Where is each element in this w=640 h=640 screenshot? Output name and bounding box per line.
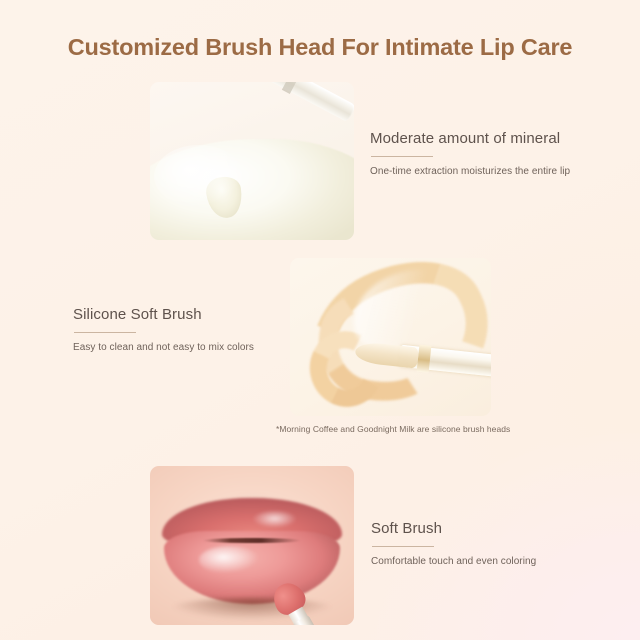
feature-heading: Soft Brush	[371, 520, 536, 537]
feature-heading: Moderate amount of mineral	[370, 130, 570, 147]
lip-gloss-highlight-lower	[199, 546, 260, 575]
feature-caption-silicone-soft-brush: Silicone Soft Brush Easy to clean and no…	[73, 306, 254, 353]
footnote-text: *Morning Coffee and Goodnight Milk are s…	[276, 424, 510, 434]
feature-caption-soft-brush: Soft Brush Comfortable touch and even co…	[371, 520, 536, 567]
feature-description: Easy to clean and not easy to mix colors	[73, 342, 254, 353]
feature-caption-moderate-mineral: Moderate amount of mineral One-time extr…	[370, 130, 570, 177]
caption-divider	[74, 332, 136, 333]
caption-divider	[371, 156, 433, 157]
feature-description: One-time extraction moisturizes the enti…	[370, 166, 570, 177]
feature-description: Comfortable touch and even coloring	[371, 556, 536, 567]
feature-image-silicone-soft-brush	[290, 258, 491, 416]
page-title: Customized Brush Head For Intimate Lip C…	[0, 34, 640, 61]
feature-image-soft-brush	[150, 466, 354, 625]
lip-gloss-highlight-upper	[252, 511, 297, 528]
lotion-highlight	[154, 145, 244, 208]
feature-image-moderate-mineral	[150, 82, 354, 240]
caption-divider	[372, 546, 434, 547]
lip-parting-line	[203, 538, 301, 544]
feature-heading: Silicone Soft Brush	[73, 306, 254, 323]
